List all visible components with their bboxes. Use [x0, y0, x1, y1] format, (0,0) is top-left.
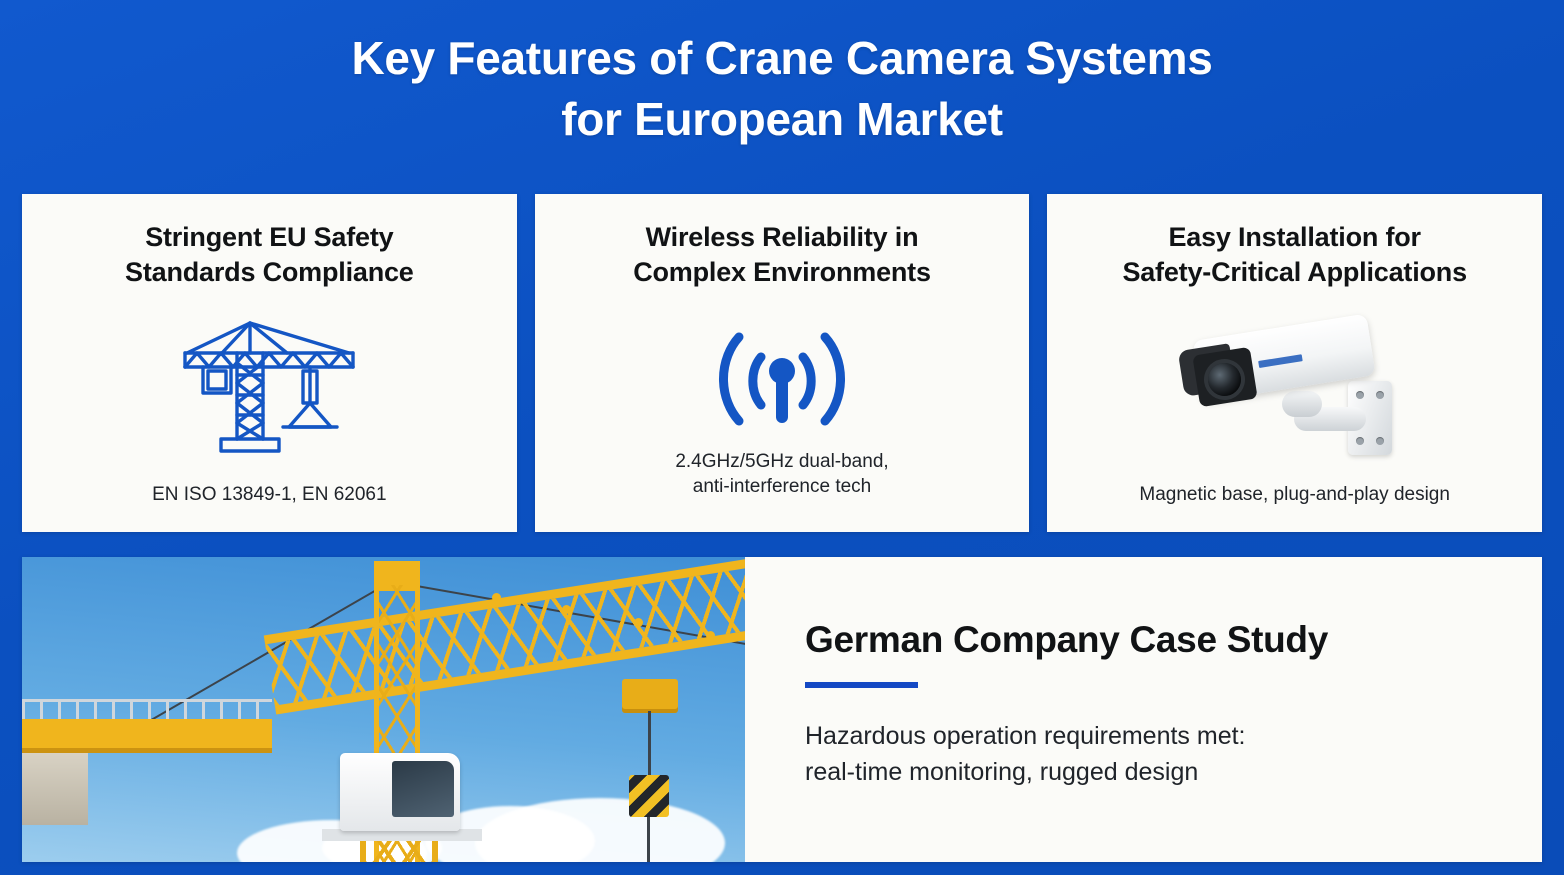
feature-card-title: Easy Installation for Safety-Critical Ap…: [1122, 220, 1466, 289]
screw-icon: [1356, 437, 1364, 445]
bullet-cctv-camera-icon: [1170, 311, 1420, 461]
screw-icon: [1376, 437, 1384, 445]
hook-block: [629, 775, 669, 817]
feature-card-title: Wireless Reliability in Complex Environm…: [633, 220, 931, 289]
case-study-body-line-1: Hazardous operation requirements met:: [805, 718, 1542, 754]
feature-card-wireless-reliability[interactable]: Wireless Reliability in Complex Environm…: [535, 194, 1030, 532]
case-study-row: German Company Case Study Hazardous oper…: [22, 557, 1542, 862]
feature-card-title-line-2: Complex Environments: [633, 257, 931, 287]
feature-card-caption: Magnetic base, plug-and-play design: [1139, 482, 1450, 514]
page-title-line-1: Key Features of Crane Camera Systems: [0, 28, 1564, 89]
screw-icon: [1356, 391, 1364, 399]
feature-card-easy-installation[interactable]: Easy Installation for Safety-Critical Ap…: [1047, 194, 1542, 532]
feature-card-title: Stringent EU Safety Standards Compliance: [125, 220, 414, 289]
page-title-line-2: for European Market: [0, 89, 1564, 150]
feature-card-caption: 2.4GHz/5GHz dual-band, anti-interference…: [675, 449, 888, 514]
case-study-body-line-2: real-time monitoring, rugged design: [805, 754, 1542, 790]
feature-card-title-line-2: Standards Compliance: [125, 257, 414, 287]
case-study-body: Hazardous operation requirements met: re…: [805, 718, 1542, 790]
case-study-accent-rule: [805, 682, 918, 688]
counterweight-block: [22, 753, 88, 825]
feature-card-art: [553, 289, 1012, 449]
infographic-slide: Key Features of Crane Camera Systems for…: [0, 0, 1564, 875]
feature-card-caption-line-2: anti-interference tech: [693, 476, 872, 497]
antenna-stem: [776, 375, 788, 423]
case-study-panel: German Company Case Study Hazardous oper…: [745, 557, 1542, 862]
screw-icon: [1376, 391, 1384, 399]
feature-card-caption-line-1: Magnetic base, plug-and-play design: [1139, 484, 1450, 505]
cab-window: [392, 761, 454, 817]
tower-section: [360, 841, 438, 862]
wireless-signal-icon: [697, 309, 867, 429]
slide-header: Key Features of Crane Camera Systems for…: [0, 28, 1564, 150]
feature-card-caption-line-1: EN ISO 13849-1, EN 62061: [152, 484, 386, 505]
camera-swivel-joint: [1282, 391, 1322, 417]
page-title: Key Features of Crane Camera Systems for…: [0, 28, 1564, 150]
tower-crane-icon: [177, 315, 362, 457]
feature-card-title-line-1: Easy Installation for: [1168, 222, 1420, 252]
operator-cab: [340, 753, 460, 831]
case-study-title: German Company Case Study: [805, 619, 1542, 661]
feature-card-caption: EN ISO 13849-1, EN 62061: [152, 482, 386, 514]
hoist-cable: [648, 711, 651, 777]
counter-jib: [22, 719, 272, 753]
feature-card-eu-safety[interactable]: Stringent EU Safety Standards Compliance: [22, 194, 517, 532]
feature-card-title-line-1: Stringent EU Safety: [145, 222, 393, 252]
feature-card-art: [1065, 289, 1524, 482]
crane-photo: [22, 557, 745, 862]
feature-card-title-line-1: Wireless Reliability in: [646, 222, 919, 252]
feature-cards-row: Stringent EU Safety Standards Compliance: [22, 194, 1542, 532]
feature-card-art: [40, 289, 499, 482]
feature-card-title-line-2: Safety-Critical Applications: [1122, 257, 1466, 287]
hoist-trolley: [622, 679, 678, 713]
feature-card-caption-line-1: 2.4GHz/5GHz dual-band,: [675, 451, 888, 472]
hook-cable: [647, 817, 650, 862]
